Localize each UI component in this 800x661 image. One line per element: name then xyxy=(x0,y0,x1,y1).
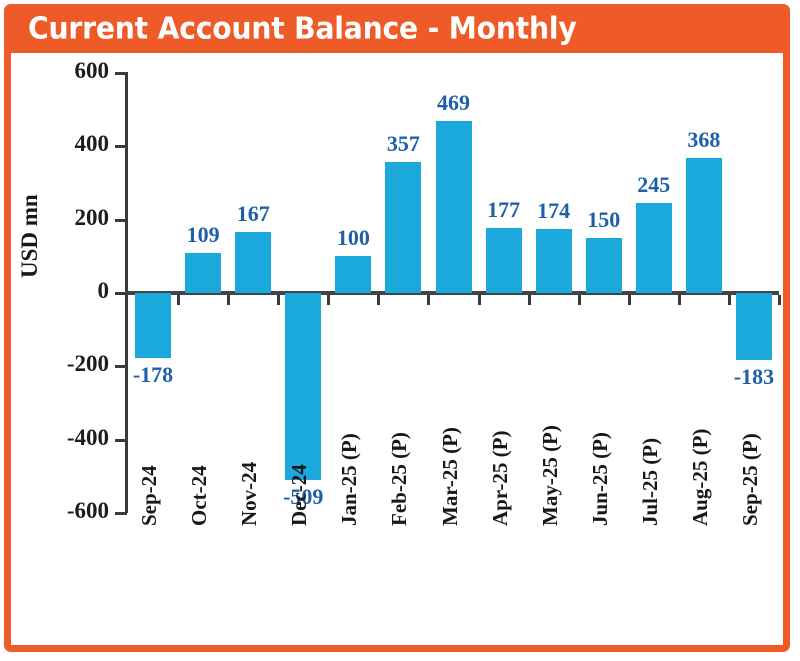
x-axis-tick xyxy=(277,295,280,305)
x-axis-label: May-25 (P) xyxy=(538,425,563,526)
x-axis-label: Sep-24 xyxy=(137,465,162,526)
x-axis-label: Jul-25 (P) xyxy=(638,438,663,526)
y-axis-tick xyxy=(115,72,127,75)
bar-value-label: -178 xyxy=(108,362,198,388)
bar-value-label: 167 xyxy=(208,201,298,227)
x-axis-tick xyxy=(678,295,681,305)
x-axis-label: Jun-25 (P) xyxy=(588,432,613,526)
x-axis-tick xyxy=(177,295,180,305)
bar-value-label: 368 xyxy=(659,127,749,153)
x-axis-tick xyxy=(227,295,230,305)
x-axis-label: Jan-25 (P) xyxy=(337,433,362,526)
y-axis-tick xyxy=(115,219,127,222)
x-axis-label: Oct-24 xyxy=(187,465,212,526)
y-axis-tick-label: -600 xyxy=(41,498,109,524)
bar xyxy=(185,253,221,293)
x-axis-label: Feb-25 (P) xyxy=(387,432,412,526)
y-axis-tick xyxy=(115,145,127,148)
y-axis-tick-label: 0 xyxy=(41,278,109,304)
x-axis-label: Nov-24 xyxy=(237,462,262,526)
bar xyxy=(686,158,722,293)
bar xyxy=(235,232,271,293)
bar-value-label: -183 xyxy=(709,364,783,390)
x-axis-tick xyxy=(427,295,430,305)
x-axis-label: Aug-25 (P) xyxy=(688,429,713,526)
bar xyxy=(586,238,622,293)
y-axis-tick-label: -400 xyxy=(41,425,109,451)
x-axis-tick xyxy=(778,295,781,305)
x-axis-label: Sep-25 (P) xyxy=(738,433,763,526)
y-axis-tick xyxy=(115,439,127,442)
bar xyxy=(335,256,371,293)
x-axis-tick xyxy=(478,295,481,305)
x-axis-tick xyxy=(528,295,531,305)
bar xyxy=(636,203,672,293)
x-axis-tick xyxy=(728,295,731,305)
y-axis-tick-label: 400 xyxy=(41,131,109,157)
x-axis-tick xyxy=(578,295,581,305)
x-axis-tick xyxy=(377,295,380,305)
chart-screenshot: Current Account Balance - Monthly USD mn… xyxy=(0,0,800,661)
y-axis-tick-label: -200 xyxy=(41,351,109,377)
bar-value-label: 469 xyxy=(409,90,499,116)
bar xyxy=(385,162,421,293)
y-axis-title: USD mn xyxy=(17,194,43,278)
bar xyxy=(285,293,321,480)
y-axis-tick xyxy=(115,512,127,515)
bar xyxy=(536,229,572,293)
x-axis-label: Dec-24 xyxy=(287,464,312,526)
y-axis-tick-label: 200 xyxy=(41,205,109,231)
bar xyxy=(486,228,522,293)
bar xyxy=(135,293,171,358)
x-axis-tick xyxy=(327,295,330,305)
page-title: Current Account Balance - Monthly xyxy=(28,11,577,46)
x-axis-label: Apr-25 (P) xyxy=(488,431,513,526)
chart-title-bar: Current Account Balance - Monthly xyxy=(4,4,790,53)
y-axis-tick-label: 600 xyxy=(41,58,109,84)
y-axis-tick xyxy=(115,292,127,295)
chart-plot-area: USD mn 6004002000-200-400-600 -178109167… xyxy=(11,53,783,645)
x-axis-tick xyxy=(628,295,631,305)
bar xyxy=(736,293,772,360)
x-axis-label: Mar-25 (P) xyxy=(438,427,463,526)
